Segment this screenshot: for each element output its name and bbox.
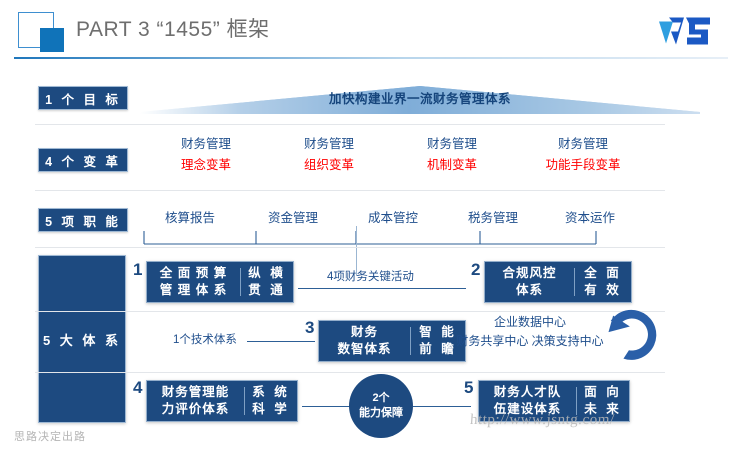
capability-circle: 2个 能力保障 bbox=[349, 374, 413, 438]
reform-column-2: 财务管理 组织变革 bbox=[269, 134, 389, 176]
center-line-2: 财务共享中心 决策支持中心 bbox=[440, 332, 620, 351]
system-box-4-tag: 系 统 科 学 bbox=[245, 381, 297, 421]
function-item-1: 核算报告 bbox=[145, 209, 235, 227]
system-box-1-title: 全 面 预 算 管 理 体 系 bbox=[147, 262, 240, 302]
data-centers-annotation: 企业数据中心 财务共享中心 决策支持中心 bbox=[440, 313, 620, 351]
function-bracket-connector bbox=[140, 230, 600, 246]
company-logo-icon bbox=[658, 14, 714, 48]
reform-label-top: 财务管理 bbox=[269, 134, 389, 154]
reform-column-3: 财务管理 机制变革 bbox=[392, 134, 512, 176]
capability-left-connector bbox=[302, 406, 350, 407]
divider-after-functions bbox=[35, 247, 665, 248]
reform-column-1: 财务管理 理念变革 bbox=[146, 134, 266, 176]
reform-label-top: 财务管理 bbox=[146, 134, 266, 154]
watermark-url: http://www.jsntg.com/ bbox=[469, 412, 615, 429]
capability-right-connector bbox=[413, 406, 471, 407]
system-number-3: 3 bbox=[305, 318, 314, 338]
system-box-3-title: 财务 数智体系 bbox=[319, 321, 410, 361]
system-box-1[interactable]: 全 面 预 算 管 理 体 系 纵 横 贯 通 bbox=[146, 261, 294, 303]
reform-label-bottom: 机制变革 bbox=[392, 154, 512, 176]
capability-circle-line-2: 能力保障 bbox=[359, 406, 403, 421]
divider-systems-row-2 bbox=[35, 372, 665, 373]
chip-five-functions: 5 项 职 能 bbox=[38, 208, 128, 232]
goal-banner-text: 加快构建业界一流财务管理体系 bbox=[140, 88, 700, 107]
tech-system-line bbox=[247, 341, 315, 342]
goal-banner: 加快构建业界一流财务管理体系 bbox=[140, 84, 700, 114]
system-number-5: 5 bbox=[464, 378, 473, 398]
header-divider bbox=[14, 57, 728, 59]
system-number-4: 4 bbox=[133, 378, 142, 398]
annotation-tech-system: 1个技术体系 bbox=[173, 332, 237, 348]
key-activities-underline bbox=[298, 288, 466, 289]
chip-four-reforms: 4 个 变 革 bbox=[38, 148, 128, 172]
reform-label-bottom: 功能手段变革 bbox=[523, 154, 643, 176]
divider-after-reforms bbox=[35, 190, 665, 191]
footer-note: 思路决定出路 bbox=[14, 428, 86, 444]
function-item-3: 成本管控 bbox=[348, 209, 438, 227]
system-number-1: 1 bbox=[133, 260, 142, 280]
system-box-4[interactable]: 财务管理能 力评价体系 系 统 科 学 bbox=[146, 380, 298, 422]
function-item-4: 税务管理 bbox=[448, 209, 538, 227]
refresh-cycle-arrow-icon bbox=[608, 306, 670, 368]
capability-circle-line-1: 2个 bbox=[372, 391, 389, 406]
chip-one-goal: 1 个 目 标 bbox=[38, 86, 128, 110]
reform-column-4: 财务管理 功能手段变革 bbox=[523, 134, 643, 176]
function-item-2: 资金管理 bbox=[248, 209, 338, 227]
reform-label-bottom: 组织变革 bbox=[269, 154, 389, 176]
annotation-key-activities: 4项财务关键活动 bbox=[327, 269, 414, 285]
slide-header: PART 3 “1455” 框架 bbox=[0, 0, 742, 64]
reform-label-top: 财务管理 bbox=[523, 134, 643, 154]
divider-after-goal bbox=[35, 124, 665, 125]
page-title: PART 3 “1455” 框架 bbox=[76, 14, 270, 46]
system-number-2: 2 bbox=[471, 260, 480, 280]
chip-five-systems: 5 大 体 系 bbox=[38, 255, 126, 423]
header-square-solid-icon bbox=[40, 28, 64, 52]
system-box-2-title: 合规风控 体系 bbox=[485, 262, 574, 302]
divider-systems-row-1 bbox=[35, 311, 665, 312]
reform-label-bottom: 理念变革 bbox=[146, 154, 266, 176]
system-box-2-tag: 全 面 有 效 bbox=[575, 262, 631, 302]
center-line-1: 企业数据中心 bbox=[440, 313, 620, 332]
slide-canvas: PART 3 “1455” 框架 1 个 目 标 加快构建业界一流财务管 bbox=[0, 0, 742, 450]
system-box-4-title: 财务管理能 力评价体系 bbox=[147, 381, 244, 421]
function-item-5: 资本运作 bbox=[545, 209, 635, 227]
system-box-2[interactable]: 合规风控 体系 全 面 有 效 bbox=[484, 261, 632, 303]
system-box-1-tag: 纵 横 贯 通 bbox=[241, 262, 293, 302]
reform-label-top: 财务管理 bbox=[392, 134, 512, 154]
